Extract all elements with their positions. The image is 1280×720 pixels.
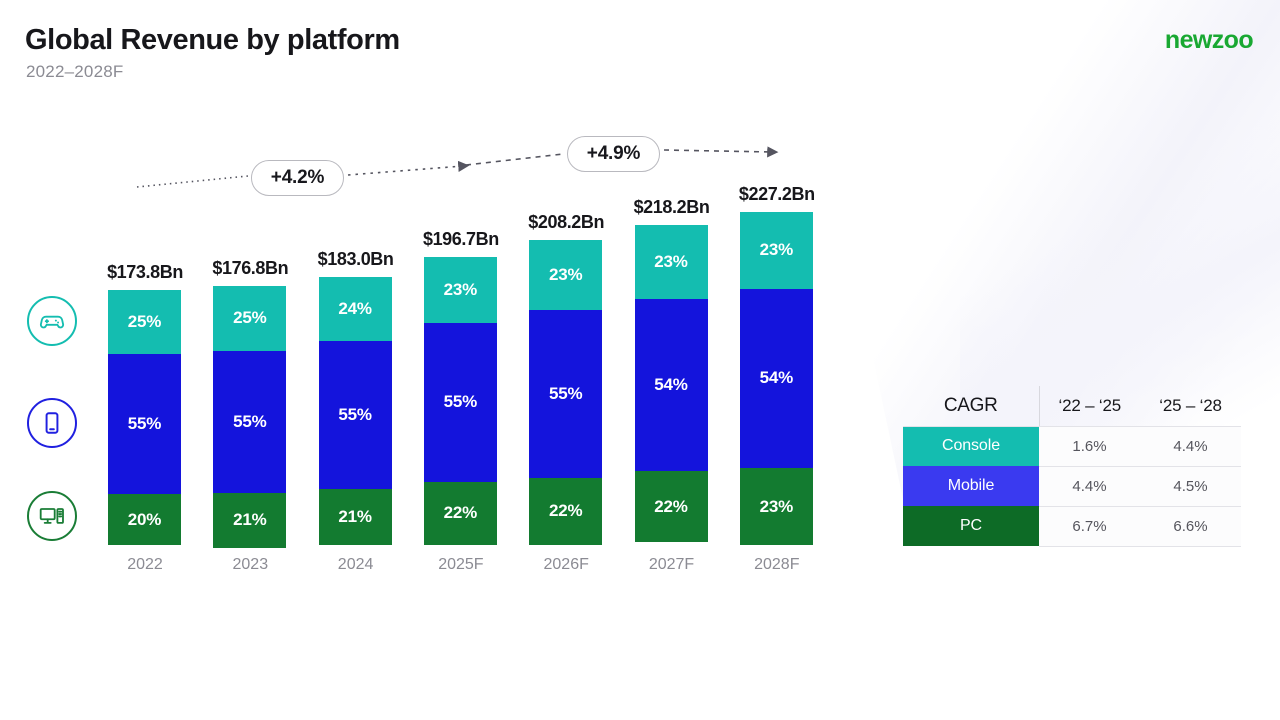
cagr-table: CAGR ‘22 – ‘25 ‘25 – ‘28 Console1.6%4.4%… (903, 386, 1241, 547)
cagr-value-pc-2: 6.6% (1140, 506, 1241, 546)
bar-total-label-2024: $183.0Bn (276, 249, 436, 270)
cagr-table-header-row: CAGR ‘22 – ‘25 ‘25 – ‘28 (903, 386, 1241, 426)
bar-segment-console-2024[interactable]: 24% (319, 277, 392, 341)
smartphone-icon (27, 398, 77, 448)
cagr-row-label-mobile: Mobile (903, 466, 1039, 506)
cagr-badge-2025-2028: +4.9% (567, 136, 660, 172)
bar-segment-mobile-2027F[interactable]: 54% (635, 299, 708, 472)
bar-segment-pc-2023[interactable]: 21% (213, 493, 286, 547)
cagr-badge-2022-2025: +4.2% (251, 160, 344, 196)
trend-line-a (137, 176, 248, 187)
bar-column-2025F[interactable]: 23%55%22% (424, 257, 497, 545)
x-axis-label-2022: 2022 (90, 556, 200, 574)
slide-root: Global Revenue by platform 2022–2028F ne… (0, 0, 1280, 720)
trend-line-d (664, 150, 772, 152)
bar-segment-mobile-2023[interactable]: 55% (213, 351, 286, 494)
cagr-value-pc-1: 6.7% (1039, 506, 1140, 546)
bar-segment-pc-2028F[interactable]: 23% (740, 468, 813, 545)
x-axis-label-2023: 2023 (195, 556, 305, 574)
x-axis-label-2026F: 2026F (511, 556, 621, 574)
x-axis-label-2024: 2024 (301, 556, 411, 574)
cagr-table-row-pc: PC6.7%6.6% (903, 506, 1241, 546)
x-axis-label-2027F: 2027F (617, 556, 727, 574)
newzoo-logo: newzoo (1165, 26, 1253, 55)
page-subtitle: 2022–2028F (26, 62, 123, 82)
cagr-row-label-console: Console (903, 426, 1039, 466)
bar-segment-pc-2026F[interactable]: 22% (529, 478, 602, 545)
cagr-table-row-console: Console1.6%4.4% (903, 426, 1241, 466)
bar-column-2027F[interactable]: 23%54%22% (635, 225, 708, 545)
cagr-table-row-mobile: Mobile4.4%4.5% (903, 466, 1241, 506)
bar-segment-console-2026F[interactable]: 23% (529, 240, 602, 310)
cagr-row-label-pc: PC (903, 506, 1039, 546)
x-axis-label-2028F: 2028F (722, 556, 832, 574)
bar-column-2028F[interactable]: 23%54%23% (740, 212, 813, 545)
bar-segment-pc-2022[interactable]: 20% (108, 494, 181, 545)
cagr-value-console-1: 1.6% (1039, 426, 1140, 466)
bar-column-2024[interactable]: 24%55%21% (319, 277, 392, 545)
bar-segment-console-2028F[interactable]: 23% (740, 212, 813, 289)
bar-segment-mobile-2025F[interactable]: 55% (424, 323, 497, 482)
page-title: Global Revenue by platform (25, 24, 400, 57)
bar-column-2022[interactable]: 25%55%20% (108, 290, 181, 545)
x-axis-label-2025F: 2025F (406, 556, 516, 574)
cagr-col-header-2: ‘25 – ‘28 (1140, 386, 1241, 426)
bar-column-2026F[interactable]: 23%55%22% (529, 240, 602, 545)
bar-column-2023[interactable]: 25%55%21% (213, 286, 286, 545)
bar-segment-console-2023[interactable]: 25% (213, 286, 286, 351)
cagr-col-header-1: ‘22 – ‘25 (1039, 386, 1140, 426)
bar-segment-mobile-2024[interactable]: 55% (319, 341, 392, 489)
cagr-table-title: CAGR (903, 386, 1039, 426)
trend-line-b (348, 166, 463, 175)
bar-segment-pc-2025F[interactable]: 22% (424, 482, 497, 545)
bar-total-label-2028F: $227.2Bn (697, 184, 857, 205)
cagr-value-mobile-2: 4.5% (1140, 466, 1241, 506)
bar-segment-mobile-2022[interactable]: 55% (108, 354, 181, 494)
bar-segment-console-2025F[interactable]: 23% (424, 257, 497, 323)
bar-segment-mobile-2026F[interactable]: 55% (529, 310, 602, 478)
bar-segment-pc-2027F[interactable]: 22% (635, 471, 708, 541)
bar-segment-mobile-2028F[interactable]: 54% (740, 289, 813, 469)
bar-segment-pc-2024[interactable]: 21% (319, 489, 392, 545)
cagr-value-console-2: 4.4% (1140, 426, 1241, 466)
gamepad-icon (27, 296, 77, 346)
bar-segment-console-2027F[interactable]: 23% (635, 225, 708, 299)
trend-line-c (466, 154, 563, 165)
cagr-value-mobile-1: 4.4% (1039, 466, 1140, 506)
desktop-pc-icon (27, 491, 77, 541)
bar-segment-console-2022[interactable]: 25% (108, 290, 181, 354)
